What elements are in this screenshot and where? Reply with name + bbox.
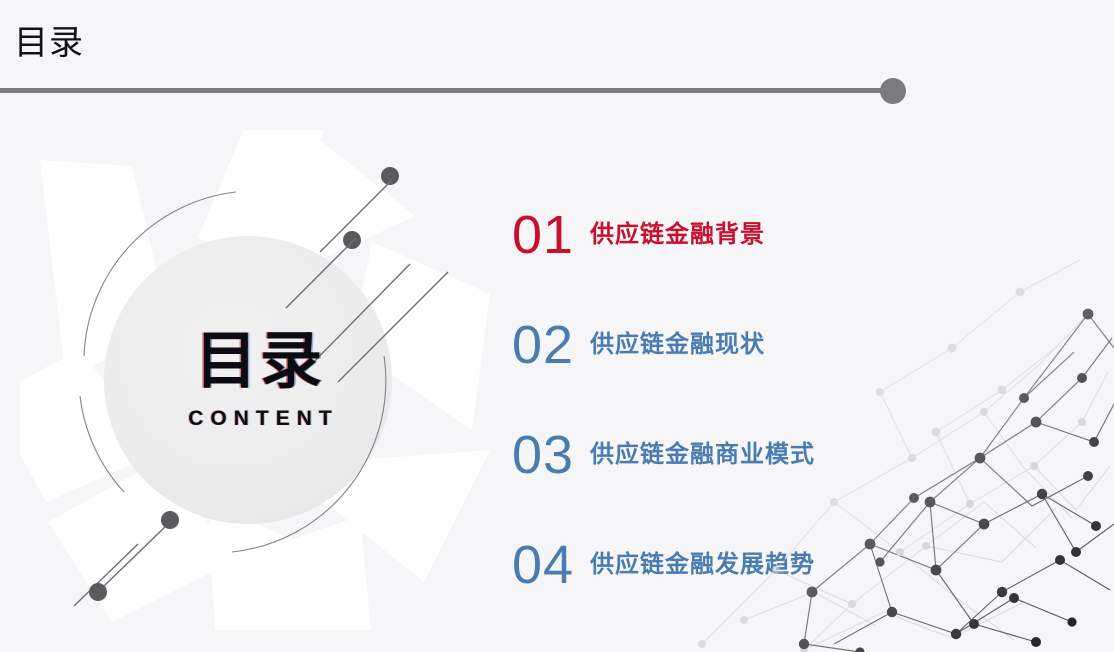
agenda-item-04[interactable]: 04 供应链金融发展趋势 <box>512 510 932 620</box>
agenda-label-01: 供应链金融背景 <box>590 223 765 247</box>
slide-canvas: 目录 <box>0 0 1114 652</box>
emblem-circle <box>104 236 392 524</box>
agenda-list: 01 供应链金融背景 02 供应链金融现状 03 供应链金融商业模式 04 供应… <box>512 180 932 620</box>
agenda-label-03: 供应链金融商业模式 <box>590 443 815 467</box>
accent-dot <box>343 231 361 249</box>
agenda-item-03[interactable]: 03 供应链金融商业模式 <box>512 400 932 510</box>
agenda-label-02: 供应链金融现状 <box>590 333 765 357</box>
content-emblem-graphic: 目录 CONTENT <box>20 130 500 630</box>
accent-dot <box>161 511 179 529</box>
page-title: 目录 <box>14 26 84 60</box>
header-divider-line <box>0 88 893 93</box>
agenda-number-02: 02 <box>512 318 590 372</box>
header-divider-end-dot <box>880 78 906 104</box>
agenda-item-01[interactable]: 01 供应链金融背景 <box>512 180 932 290</box>
agenda-number-04: 04 <box>512 538 590 592</box>
agenda-number-03: 03 <box>512 428 590 482</box>
agenda-number-01: 01 <box>512 208 590 262</box>
agenda-label-04: 供应链金融发展趋势 <box>590 553 815 577</box>
agenda-item-02[interactable]: 02 供应链金融现状 <box>512 290 932 400</box>
accent-dot <box>89 583 107 601</box>
